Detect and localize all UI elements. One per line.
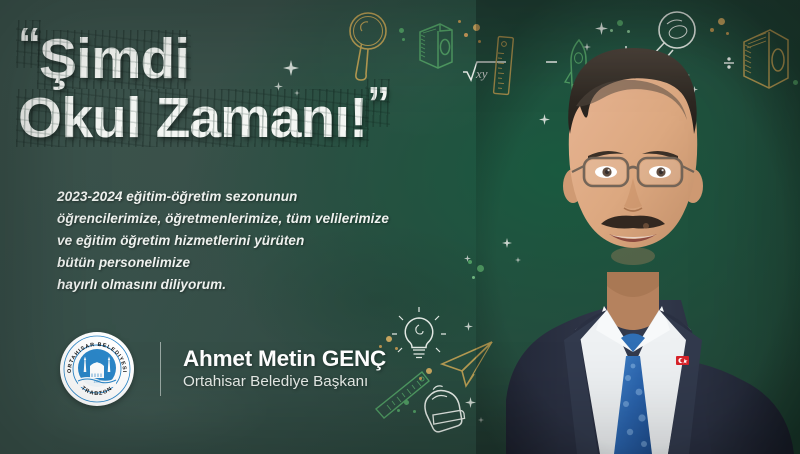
- deco-dot: [726, 32, 729, 35]
- deco-dot: [710, 28, 714, 32]
- deco-dot: [426, 368, 432, 374]
- sparkle-icon: [691, 80, 698, 98]
- school-season-greeting-poster: xy: [0, 0, 800, 454]
- message-line: hayırlı olmasını diliyorum.: [57, 274, 389, 296]
- deco-dot: [397, 409, 400, 412]
- sparkle-icon: [478, 410, 484, 428]
- sparkle-icon: [515, 250, 521, 268]
- deco-dot: [627, 30, 630, 33]
- sparkle-icon: [502, 235, 512, 253]
- sparkle-icon: [465, 395, 476, 413]
- deco-dot: [793, 80, 798, 85]
- deco-dot: [718, 18, 725, 25]
- message-body: 2023-2024 eğitim-öğretim sezonunun öğren…: [57, 186, 389, 296]
- sparkle-icon: [464, 249, 471, 267]
- message-line: ve eğitim öğretim hizmetlerini yürüten: [57, 230, 389, 252]
- deco-dot: [404, 400, 409, 405]
- mayor-title: Ortahisar Belediye Başkanı: [183, 373, 386, 391]
- plus-sign: [620, 45, 632, 57]
- sparkle-icon: [676, 68, 690, 87]
- deco-dot: [472, 276, 475, 279]
- magnifier-outline-icon: [645, 8, 701, 72]
- sparkle-icon: [464, 318, 473, 336]
- deco-dot: [610, 29, 613, 32]
- municipality-seal-logo: 1994 ORTAHISAR BELEDIYESI TRABZON: [60, 332, 134, 406]
- headline-line-1: Şimdi: [39, 32, 189, 87]
- headline-line-2: Okul Zamanı!: [18, 91, 367, 146]
- paper-plane-icon: [440, 340, 496, 388]
- signature-text: Ahmet Metin GENÇ Ortahisar Belediye Başk…: [183, 346, 386, 391]
- notebook-icon: [736, 22, 794, 92]
- deco-dot: [617, 20, 623, 26]
- headline: “Şimdi Okul Zamanı!”: [18, 22, 578, 145]
- signature-divider: [160, 342, 161, 396]
- deco-dot: [468, 260, 472, 264]
- seal-year: 1994: [93, 380, 100, 384]
- quote-open: “: [18, 22, 39, 66]
- quote-close: ”: [367, 81, 388, 125]
- mayor-name: Ahmet Metin GENÇ: [183, 346, 386, 371]
- deco-dot: [419, 377, 422, 380]
- message-line: öğrencilerimize, öğretmenlerimize, tüm v…: [57, 208, 389, 230]
- message-line: bütün personelimize: [57, 252, 389, 274]
- message-line: 2023-2024 eğitim-öğretim sezonunun: [57, 186, 389, 208]
- divide-sign: [722, 56, 736, 70]
- deco-dot: [395, 347, 398, 350]
- sparkle-icon: [583, 38, 591, 56]
- lightbulb-icon: [395, 310, 443, 362]
- deco-dot: [413, 410, 416, 413]
- deco-dot: [477, 265, 484, 272]
- sparkle-icon: [595, 22, 608, 40]
- signature-block: 1994 ORTAHISAR BELEDIYESI TRABZON Ahmet …: [60, 332, 386, 406]
- backpack-icon: [420, 380, 472, 432]
- deco-dot: [386, 336, 392, 342]
